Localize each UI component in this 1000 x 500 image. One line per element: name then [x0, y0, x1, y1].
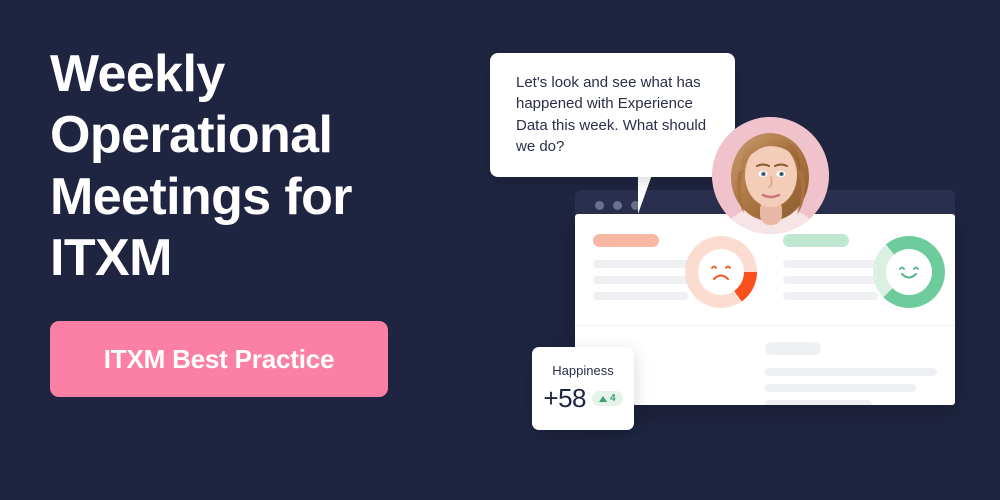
- metric-title-placeholder: [593, 234, 659, 247]
- speech-bubble-text: Let's look and see what has happened wit…: [516, 72, 713, 157]
- window-dot-icon: [613, 201, 622, 210]
- metric-card-positive: [765, 214, 955, 325]
- happy-face-icon: [894, 260, 924, 284]
- status-badge: 4: [592, 391, 623, 406]
- hero-content: Weekly Operational Meetings for ITXM ITX…: [50, 44, 470, 397]
- happy-donut-chart: [873, 236, 945, 308]
- arrow-up-icon: [599, 396, 607, 402]
- happiness-value-row: +58 4: [532, 383, 634, 414]
- happiness-metric-card: Happiness +58 4: [532, 347, 634, 430]
- metric-title-placeholder: [783, 234, 849, 247]
- speech-bubble: Let's look and see what has happened wit…: [490, 53, 735, 177]
- metric-card-negative: [575, 214, 765, 325]
- avatar: [712, 117, 829, 234]
- section-title-placeholder: [765, 342, 821, 355]
- donut-center: [886, 249, 932, 295]
- delta-value: 4: [610, 393, 616, 404]
- window-dot-icon: [595, 201, 604, 210]
- text-placeholder-bar: [593, 292, 688, 300]
- sad-donut-chart: [685, 236, 757, 308]
- avatar-portrait-icon: [712, 117, 829, 234]
- text-placeholder-bar: [765, 400, 872, 405]
- itxm-best-practice-button[interactable]: ITXM Best Practice: [50, 321, 388, 397]
- donut-center: [698, 249, 744, 295]
- promo-banner: Weekly Operational Meetings for ITXM ITX…: [0, 0, 1000, 500]
- sad-face-icon: [706, 260, 736, 284]
- text-placeholder-bar: [783, 292, 878, 300]
- happiness-label: Happiness: [532, 363, 634, 378]
- text-placeholder-bar: [765, 384, 916, 392]
- text-placeholder-bar: [765, 368, 937, 376]
- happiness-value: +58: [543, 383, 586, 414]
- page-title: Weekly Operational Meetings for ITXM: [50, 44, 470, 289]
- dashboard-illustration: Let's look and see what has happened wit…: [490, 0, 1000, 500]
